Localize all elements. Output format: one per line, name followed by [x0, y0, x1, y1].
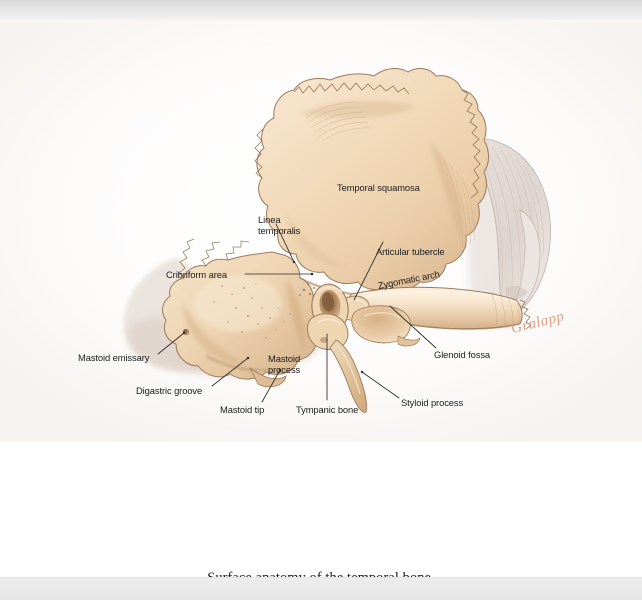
label-styloid-process: Styloid process: [401, 397, 463, 408]
viewer-bottom-band: [0, 578, 642, 600]
label-temporal-squamosa: Temporal squamosa: [337, 182, 420, 193]
bone-artwork-svg: [0, 22, 642, 442]
temporal-bone-illustration: Temporal squamosa Linea temporalis Artic…: [0, 22, 642, 442]
figure-plate: Temporal squamosa Linea temporalis Artic…: [0, 22, 642, 532]
label-tympanic-bone: Tympanic bone: [296, 404, 358, 415]
page-canvas: Temporal squamosa Linea temporalis Artic…: [0, 0, 642, 600]
label-cribriform-area: Cribriform area: [166, 269, 227, 280]
label-digastric-groove: Digastric groove: [136, 385, 202, 396]
label-articular-tubercle: Articular tubercle: [376, 246, 445, 257]
label-mastoid-tip: Mastoid tip: [220, 404, 264, 415]
viewer-top-band: [0, 0, 642, 22]
label-linea-temporalis: Linea temporalis: [258, 214, 300, 237]
mastoid-highlight: [194, 276, 282, 332]
label-mastoid-process: Mastoid process: [268, 353, 300, 376]
label-glenoid-fossa: Glenoid fossa: [434, 349, 490, 360]
label-mastoid-emissary: Mastoid emissary: [78, 352, 149, 363]
